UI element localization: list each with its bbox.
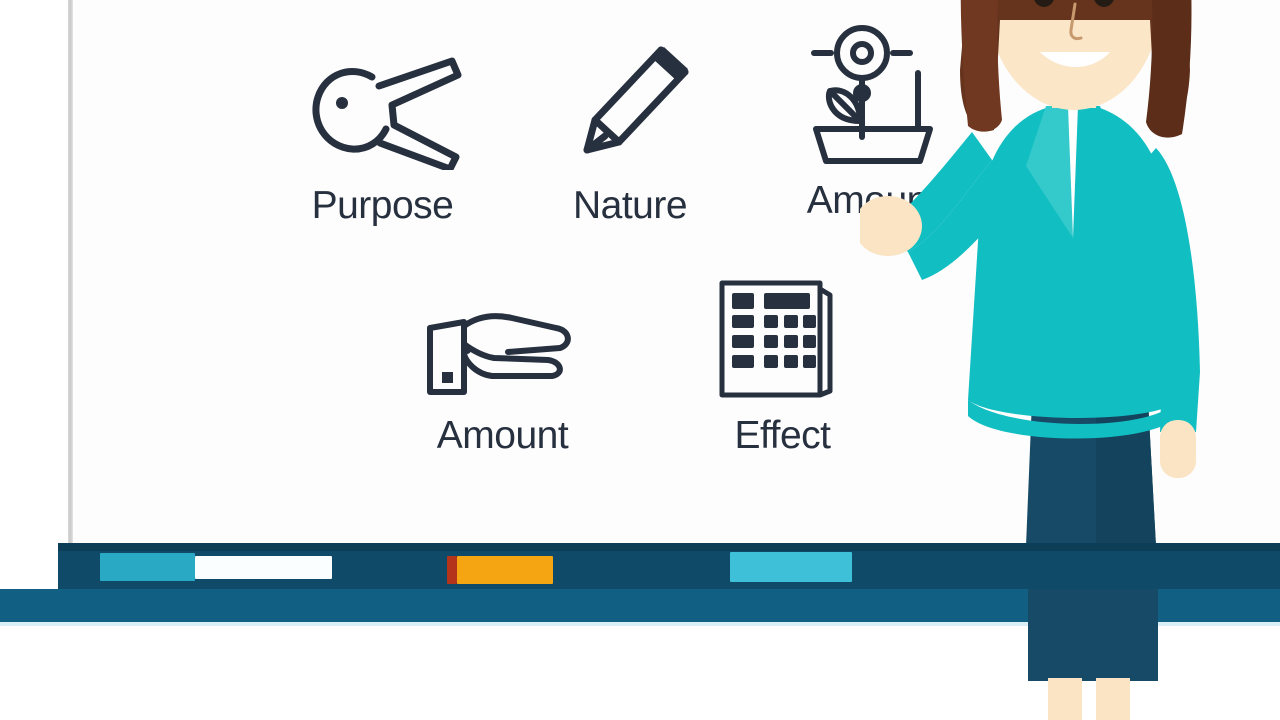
open-hand-icon — [420, 310, 585, 400]
slingshot-icon — [300, 55, 465, 170]
icon-cell-nature[interactable]: Nature — [565, 40, 695, 228]
marker-orange-body[interactable] — [457, 556, 553, 584]
hand-right — [1160, 420, 1196, 478]
whiteboard-left-gutter — [0, 0, 68, 560]
calculator-icon — [700, 275, 865, 400]
pencil-icon — [565, 40, 695, 170]
icon-label-amount-hand: Amount — [420, 414, 585, 458]
icon-cell-purpose[interactable]: Purpose — [300, 55, 465, 228]
presenter-skirt-over-tray — [1028, 589, 1158, 681]
eraser-teal-block[interactable] — [100, 553, 195, 581]
icon-label-effect: Effect — [700, 414, 865, 458]
marker-orange-cap[interactable] — [447, 556, 457, 584]
presenter-leg-right-over-tray — [1096, 678, 1130, 720]
eraser-white-block[interactable] — [195, 556, 332, 579]
marker-teal[interactable] — [730, 552, 852, 582]
icon-cell-effect[interactable]: Effect — [700, 275, 865, 458]
presenter-leg-left-over-tray — [1048, 678, 1082, 720]
whiteboard-frame-left-edge — [68, 0, 73, 545]
whiteboard-scene: PurposeNatureAmountAmountEffect — [0, 0, 1280, 720]
icon-label-nature: Nature — [565, 184, 695, 228]
icon-label-purpose: Purpose — [300, 184, 465, 228]
icon-cell-amount-hand[interactable]: Amount — [420, 310, 585, 458]
whiteboard-tray-top-shadow — [58, 543, 1280, 551]
